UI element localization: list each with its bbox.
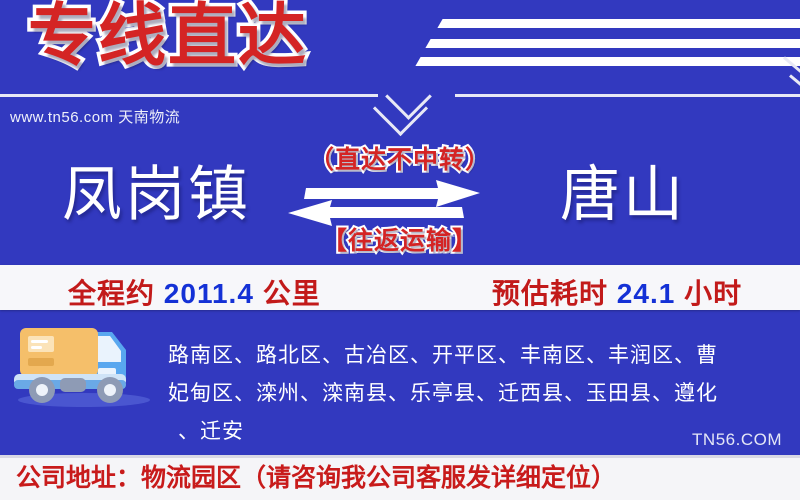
distance-unit-label: 公里 bbox=[263, 278, 321, 309]
duration-prefix-label: 预估耗时 bbox=[492, 278, 608, 309]
speed-line-decoration bbox=[415, 57, 800, 66]
duration-metric: 预估耗时 24.1 小时 bbox=[492, 272, 742, 312]
site-watermark: www.tn56.com 天南物流 bbox=[10, 106, 180, 127]
speed-line-decoration bbox=[437, 19, 800, 28]
page-title: 专线直达 bbox=[28, 2, 308, 70]
distance-value: 2011.4 bbox=[164, 278, 254, 309]
header-divider-right bbox=[455, 94, 800, 97]
direct-service-badge: （直达不中转） bbox=[0, 140, 800, 176]
corner-watermark: TN56.COM bbox=[692, 430, 782, 450]
coverage-line: 妃甸区、滦州、滦南县、乐亭县、迁西县、玉田县、遵化 bbox=[168, 375, 790, 413]
distance-metric: 全程约 2011.4 公里 bbox=[68, 272, 321, 312]
company-address-text: 公司地址：物流园区（请咨询我公司客服发详细定位） bbox=[16, 458, 616, 494]
duration-unit-label: 小时 bbox=[684, 278, 742, 309]
speed-line-tail-decoration bbox=[789, 74, 800, 92]
speed-line-decoration bbox=[425, 39, 800, 48]
round-trip-badge: 【往返运输】 bbox=[0, 221, 800, 257]
distance-prefix-label: 全程约 bbox=[68, 278, 155, 309]
double-arrow-icon bbox=[288, 180, 480, 226]
duration-value: 24.1 bbox=[617, 278, 676, 309]
coverage-line: 路南区、路北区、古冶区、开平区、丰南区、丰润区、曹 bbox=[168, 337, 790, 375]
logistics-route-poster: 专线直达 www.tn56.com 天南物流 凤岗镇 唐山 （直达不中转） 【往… bbox=[0, 0, 800, 500]
delivery-truck-icon bbox=[8, 318, 160, 408]
header-divider-left bbox=[0, 94, 378, 97]
